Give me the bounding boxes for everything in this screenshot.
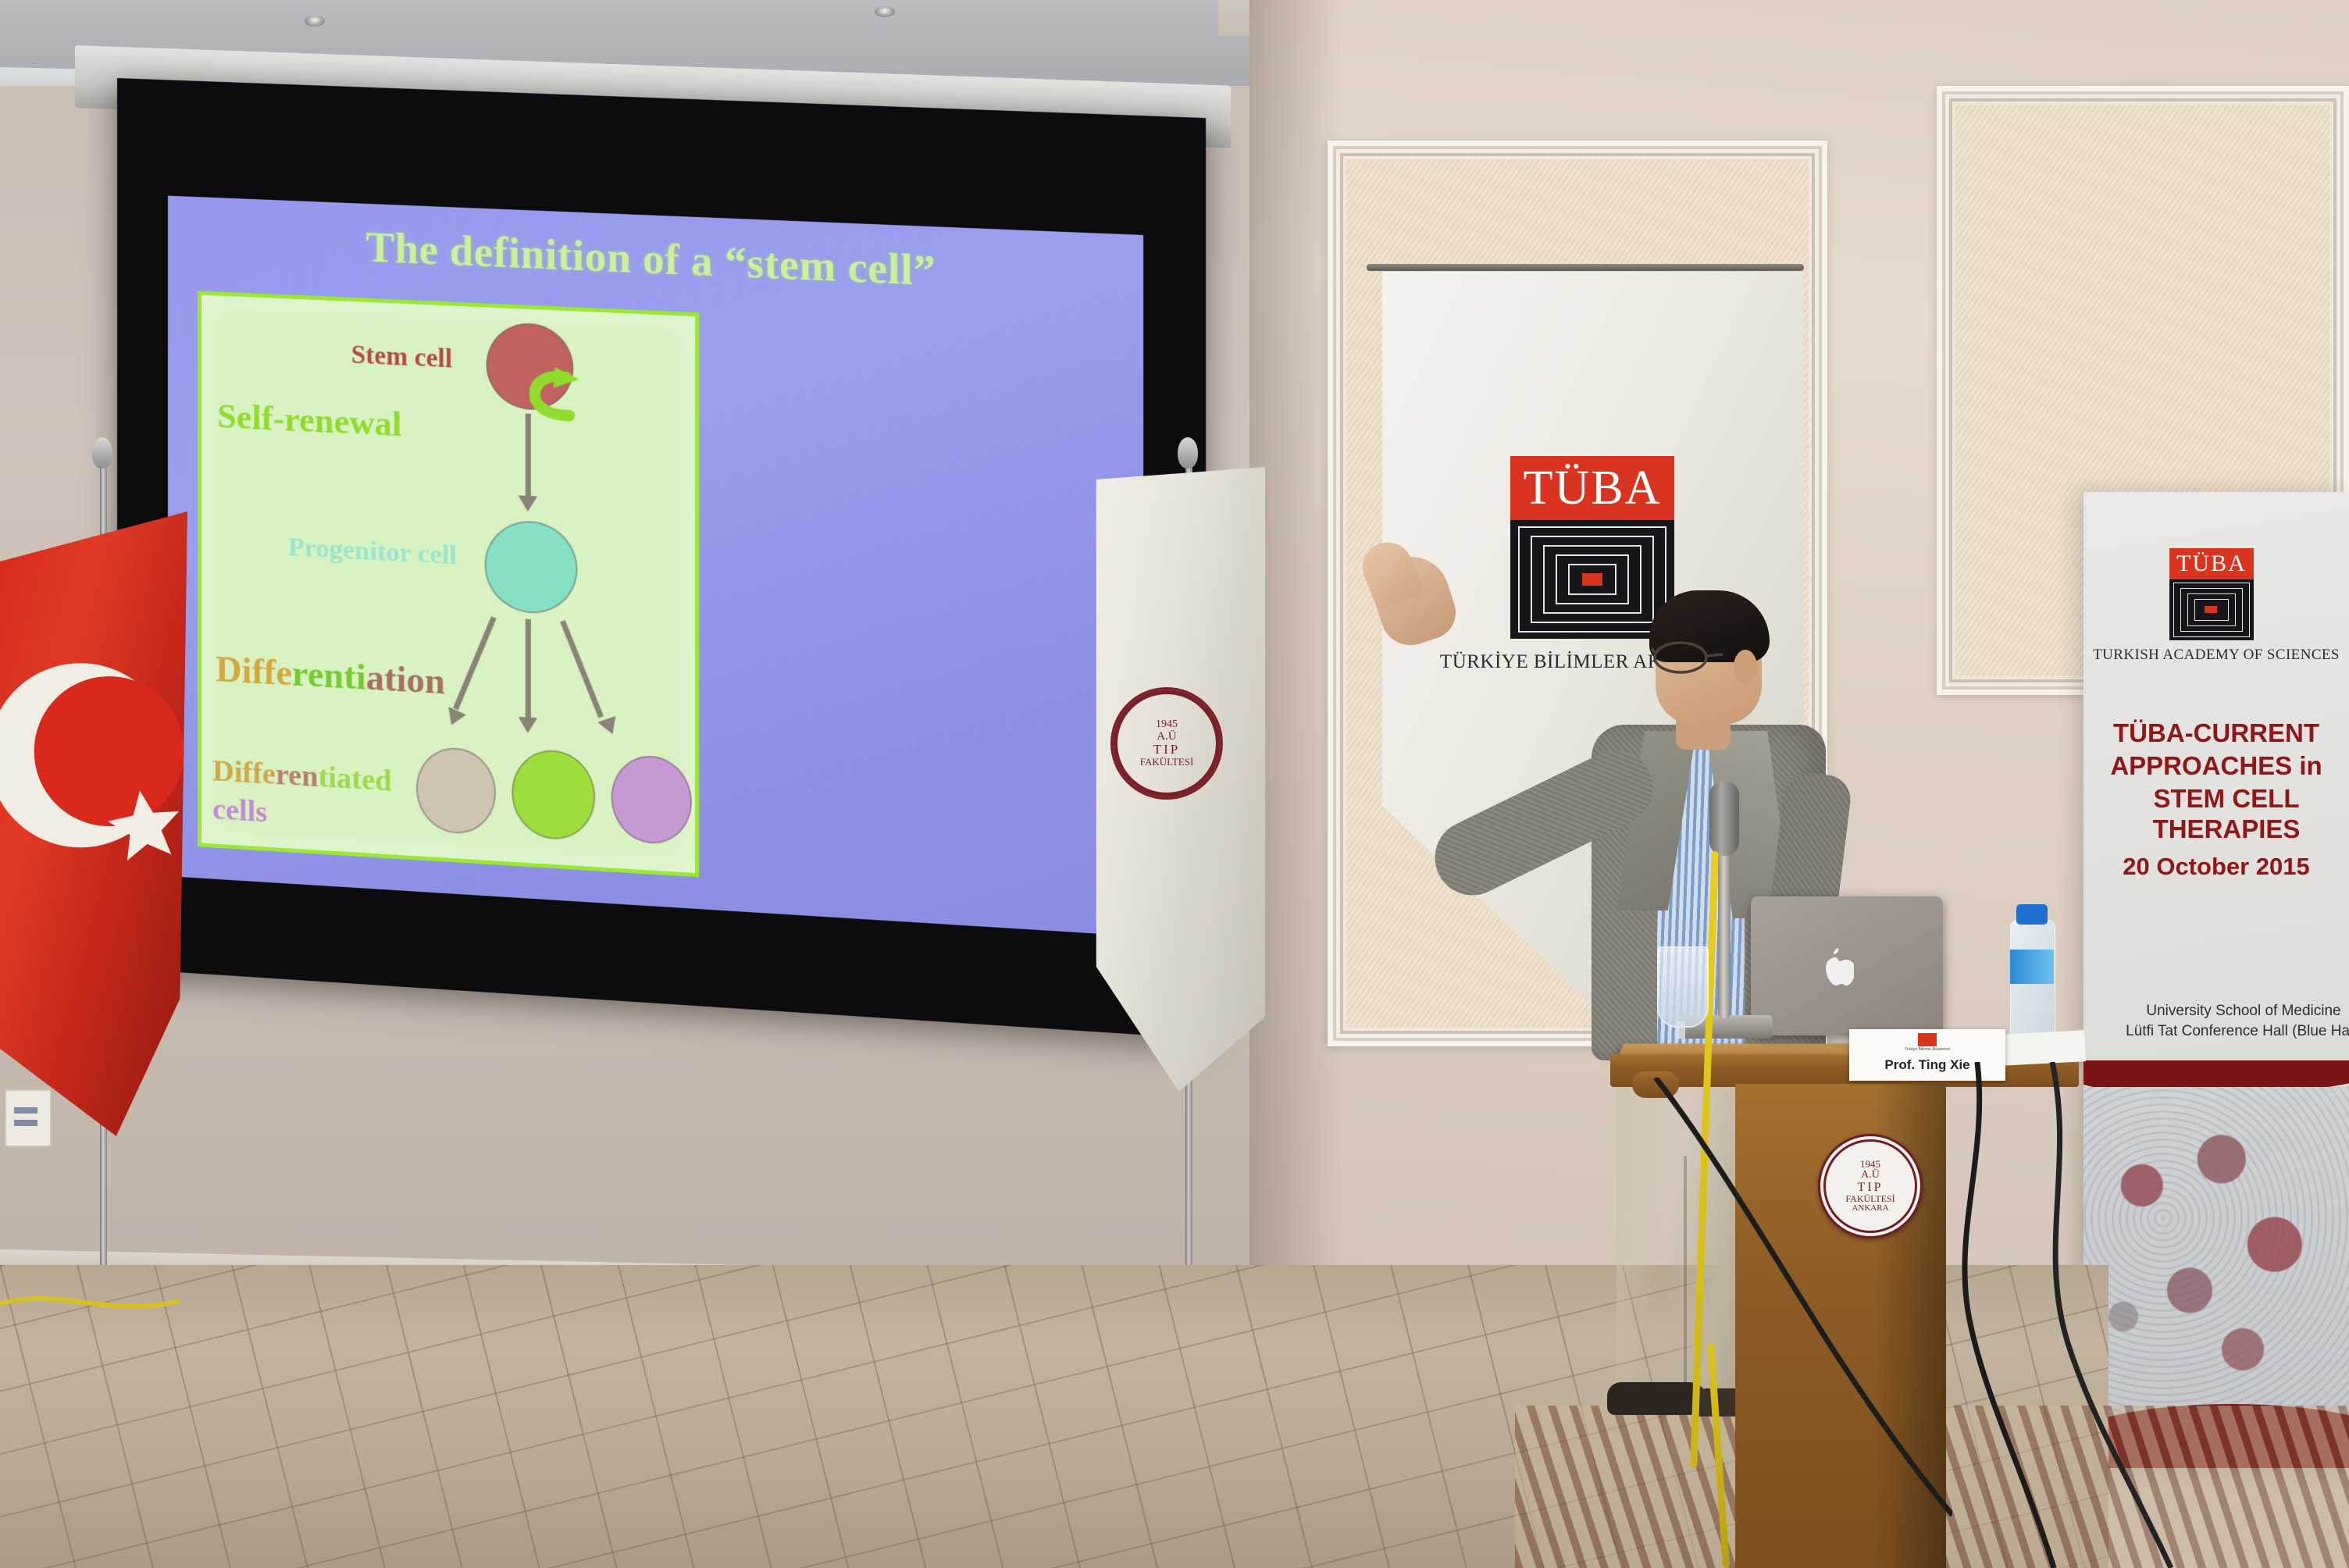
diffcells-text-c: tiated (319, 761, 392, 798)
water-glass-stem (1677, 1021, 1685, 1039)
projection-screen: The definition of a “stem cell” Stem cel… (117, 78, 1206, 1039)
tuba-logo-wordmark: TÜBA (1510, 456, 1674, 520)
differentiation-text-d: Diffe (216, 649, 292, 693)
rollup-venue-line2: Lütfi Tat Conference Hall (Blue Hall) (2091, 1021, 2349, 1042)
rollup-title-line1: TÜBA-CURRENT (2083, 718, 2349, 749)
faculty-flag-emblem-year: 1945 (1156, 719, 1178, 731)
turkish-flag-crescent-star-icon (0, 547, 187, 984)
banner-hanging-rod (1367, 264, 1804, 271)
rollup-date: 20 October 2015 (2083, 853, 2349, 881)
rollup-tuba-logo: TÜBA (2169, 548, 2254, 640)
nameplate-logo (1918, 1033, 1937, 1046)
presentation-slide: The definition of a “stem cell” Stem cel… (168, 196, 1143, 937)
microphone-head-icon[interactable] (1709, 781, 1739, 856)
differentiated-cell-1 (416, 746, 496, 836)
rollup-logo-core (2205, 606, 2217, 613)
apple-logo-icon (1818, 946, 1854, 989)
diffcells-text-b: ren (276, 758, 319, 793)
differentiation-text-a: ation (366, 657, 445, 701)
rollup-logo-maze-icon (2169, 579, 2254, 640)
ceiling-spotlight-icon (305, 16, 325, 27)
turkish-flag-finial-icon (92, 437, 112, 469)
tuba-logo-core (1582, 573, 1602, 586)
differentiated-cell-2 (512, 748, 595, 842)
arrow-stem-to-progenitor-head (519, 495, 538, 511)
lecture-hall-photo: The definition of a “stem cell” Stem cel… (0, 0, 2349, 1568)
floor-cables (1937, 1062, 2249, 1568)
stem-cell-label: Stem cell (351, 340, 452, 374)
water-bottle-label (2010, 950, 2054, 984)
water-bottle-cap (2016, 904, 2048, 925)
differentiation-text-r: renti (292, 653, 366, 697)
floor-cable-left (0, 1273, 234, 1367)
microphone-stem (1718, 843, 1731, 1018)
progenitor-cell-label: Progenitor cell (288, 533, 457, 571)
slide-diagram-panel: Stem cell Self-renewal Progenitor cell (198, 290, 699, 877)
arrow-diff-right-head (597, 716, 622, 737)
ceiling-spotlight-icon (875, 6, 895, 17)
arrow-diff-center-head (519, 717, 538, 734)
nameplate-logo-sub: Türkiye Bilimler Akademisi (1849, 1047, 2005, 1052)
rollup-logo-wordmark: TÜBA (2169, 548, 2254, 579)
differentiation-label: Differentiation (216, 648, 445, 703)
differentiated-cells-label-line1: Differentiated (212, 754, 392, 799)
rollup-venue-line1: University School of Medicine (2099, 1001, 2349, 1021)
slide-title: The definition of a “stem cell” (168, 215, 1143, 305)
rollup-org-name: TURKISH ACADEMY OF SCIENCES (2083, 647, 2349, 664)
faculty-flag-emblem-line2: TIP (1153, 743, 1181, 757)
wall-outlet (5, 1089, 52, 1147)
paper-sheet (1998, 1030, 2086, 1066)
wall-outlet-slots (14, 1107, 37, 1114)
speaker-glasses-icon (1651, 640, 1752, 676)
rollup-title-line3: STEM CELL THERAPIES (2083, 784, 2349, 845)
arrow-diff-left-head (443, 707, 466, 729)
differentiated-cells-label-line2: cells (212, 792, 267, 829)
faculty-flag-emblem: 1945 A.Ü TIP FAKÜLTESİ (1110, 687, 1223, 800)
self-renewal-arrow-icon (510, 364, 582, 429)
arrow-stem-to-progenitor (526, 413, 531, 499)
rollup-title-line2: APPROACHES in (2083, 751, 2349, 782)
faculty-flag-emblem-line3: FAKÜLTESİ (1140, 757, 1194, 768)
progenitor-cell-circle (485, 519, 578, 616)
differentiated-cell-3 (611, 754, 692, 846)
diffcells-text-a: Diffe (212, 754, 276, 791)
water-glass[interactable] (1657, 946, 1709, 1028)
wall-outlet-slots (14, 1120, 37, 1126)
arrow-diff-right (560, 620, 604, 718)
arrow-diff-left (453, 616, 497, 710)
self-renewal-label: Self-renewal (217, 396, 401, 444)
faculty-flag-finial-icon (1178, 437, 1198, 469)
arrow-diff-center (526, 619, 531, 721)
podium-cable (1624, 1078, 1952, 1562)
faculty-flag-emblem-line1: A.Ü (1157, 731, 1176, 743)
